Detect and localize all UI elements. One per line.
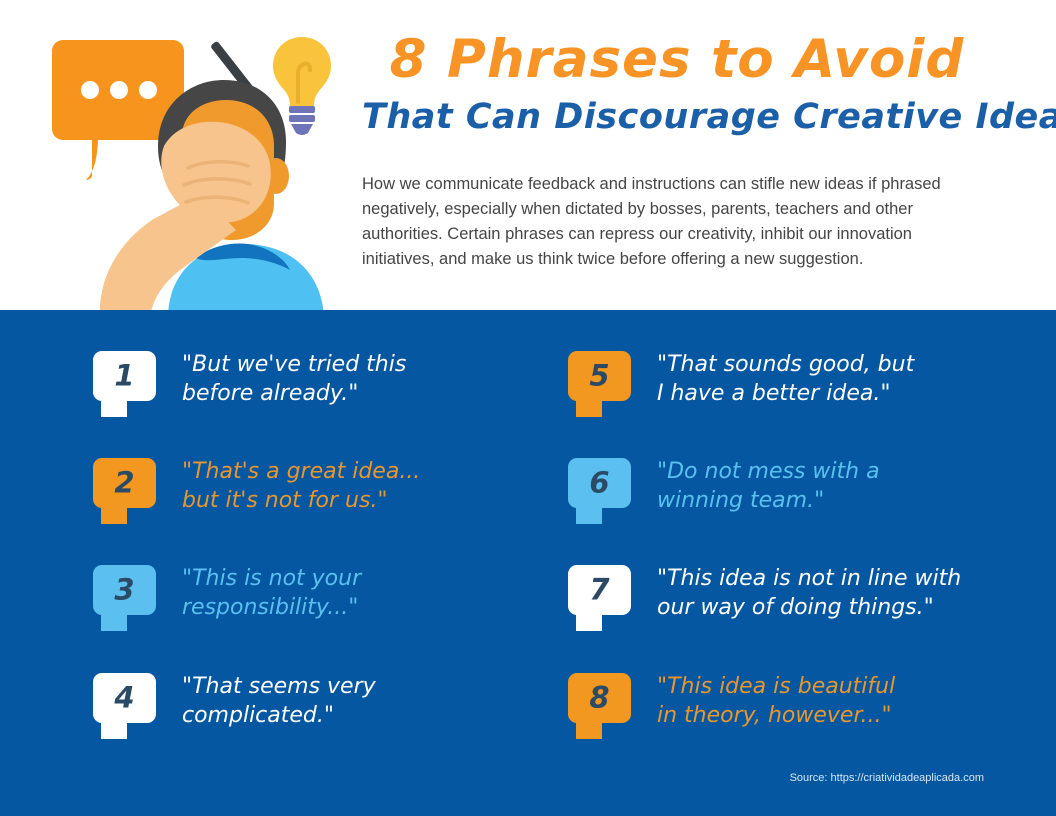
list-item: 1 "But we've tried this before already." <box>93 348 563 408</box>
header-section: 8 Phrases to Avoid That Can Discourage C… <box>0 0 1056 310</box>
list-item: 4 "That seems very complicated." <box>93 670 563 730</box>
phrase-text: "But we've tried this before already." <box>182 348 406 408</box>
facepalm-illustration <box>40 18 360 310</box>
list-item: 6 "Do not mess with a winning team." <box>568 455 1038 515</box>
intro-paragraph: How we communicate feedback and instruct… <box>362 172 980 272</box>
phrase-text: "Do not mess with a winning team." <box>657 455 880 515</box>
phrase-bubble-8: 8 <box>568 673 631 723</box>
list-item: 3 "This is not your responsibility..." <box>93 562 563 622</box>
phrase-text: "That's a great idea... but it's not for… <box>182 455 420 515</box>
phrase-number: 5 <box>568 362 631 391</box>
phrases-panel: 1 "But we've tried this before already."… <box>0 310 1056 816</box>
list-item: 7 "This idea is not in line with our way… <box>568 562 1038 622</box>
phrase-number: 6 <box>568 469 631 498</box>
phrase-number: 2 <box>93 469 156 498</box>
bubble-tail <box>576 611 602 631</box>
list-item: 5 "That sounds good, but I have a better… <box>568 348 1038 408</box>
bubble-tail <box>576 504 602 524</box>
list-item: 2 "That's a great idea... but it's not f… <box>93 455 563 515</box>
phrase-bubble-2: 2 <box>93 458 156 508</box>
bubble-tail <box>576 397 602 417</box>
phrase-bubble-1: 1 <box>93 351 156 401</box>
phrase-number: 7 <box>568 576 631 605</box>
phrase-bubble-4: 4 <box>93 673 156 723</box>
page-subtitle: That Can Discourage Creative Ideas <box>362 98 992 137</box>
phrase-number: 1 <box>93 362 156 391</box>
bubble-tail <box>101 504 127 524</box>
phrase-text: "This idea is beautiful in theory, howev… <box>657 670 895 730</box>
bubble-tail <box>101 611 127 631</box>
bubble-tail <box>101 397 127 417</box>
phrase-text: "That seems very complicated." <box>182 670 376 730</box>
bubble-tail <box>101 719 127 739</box>
phrase-text: "That sounds good, but I have a better i… <box>657 348 914 408</box>
phrase-bubble-5: 5 <box>568 351 631 401</box>
phrase-number: 3 <box>93 576 156 605</box>
page-title: 8 Phrases to Avoid <box>362 32 992 88</box>
phrase-number: 8 <box>568 684 631 713</box>
list-item: 8 "This idea is beautiful in theory, how… <box>568 670 1038 730</box>
headline-block: 8 Phrases to Avoid That Can Discourage C… <box>362 32 992 137</box>
phrase-number: 4 <box>93 684 156 713</box>
phrase-text: "This is not your responsibility..." <box>182 562 361 622</box>
source-attribution: Source: https://criatividadeaplicada.com <box>790 772 984 784</box>
phrase-text: "This idea is not in line with our way o… <box>657 562 961 622</box>
phrase-bubble-3: 3 <box>93 565 156 615</box>
phrase-bubble-7: 7 <box>568 565 631 615</box>
phrase-bubble-6: 6 <box>568 458 631 508</box>
bubble-tail <box>576 719 602 739</box>
